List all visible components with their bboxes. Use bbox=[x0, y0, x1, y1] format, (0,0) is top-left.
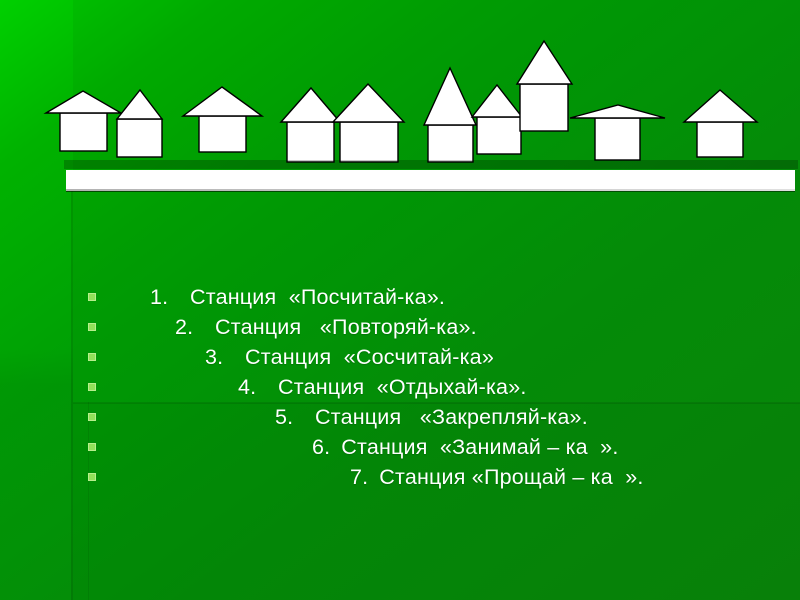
road-bar-shadow bbox=[64, 160, 798, 169]
house-7-peaked-body bbox=[477, 117, 521, 154]
house-6-narrow-spire-body bbox=[428, 125, 473, 162]
house-6-narrow-spire-roof bbox=[424, 68, 476, 125]
station-list: 1. Станция «Посчитай-ка».2. Станция «Пов… bbox=[0, 282, 800, 492]
village-skyline-illustration bbox=[0, 0, 800, 185]
list-item[interactable]: 4. Станция «Отдыхай-ка». bbox=[0, 372, 800, 402]
house-10-wide-roof-roof bbox=[684, 90, 757, 122]
house-1-wide-roof bbox=[46, 91, 121, 151]
house-7-peaked bbox=[472, 85, 522, 154]
list-item-label: 2. Станция «Повторяй-ка». bbox=[175, 315, 477, 340]
house-10-wide-roof-body bbox=[697, 122, 743, 157]
list-item[interactable]: 7. Станция «Прощай – ка ». bbox=[0, 462, 800, 492]
house-5-tall-roof-roof bbox=[333, 84, 404, 122]
road-bar-underline bbox=[66, 189, 795, 192]
house-2-steep-roof-body bbox=[117, 119, 162, 157]
white-horizontal-bar bbox=[66, 170, 795, 191]
list-item[interactable]: 2. Станция «Повторяй-ка». bbox=[0, 312, 800, 342]
list-item[interactable]: 5. Станция «Закрепляй-ка». bbox=[0, 402, 800, 432]
square-bullet-icon bbox=[88, 443, 96, 451]
list-item[interactable]: 3. Станция «Сосчитай-ка» bbox=[0, 342, 800, 372]
house-3-wide-roof-roof bbox=[183, 87, 262, 116]
square-bullet-icon bbox=[88, 353, 96, 361]
house-2-steep-roof bbox=[117, 90, 162, 157]
square-bullet-icon bbox=[88, 383, 96, 391]
house-4-tall-roof bbox=[281, 88, 340, 162]
house-1-wide-roof-body bbox=[60, 113, 107, 151]
presentation-slide: 1. Станция «Посчитай-ка».2. Станция «Пов… bbox=[0, 0, 800, 600]
house-6-narrow-spire bbox=[424, 68, 476, 162]
house-3-wide-roof bbox=[183, 87, 262, 152]
list-item-label: 5. Станция «Закрепляй-ка». bbox=[275, 405, 588, 430]
house-4-tall-roof-body bbox=[287, 122, 334, 162]
house-5-tall-roof-body bbox=[340, 122, 398, 162]
list-item-label: 3. Станция «Сосчитай-ка» bbox=[205, 345, 494, 370]
house-8-tower-roof bbox=[517, 41, 572, 84]
house-2-steep-roof-roof bbox=[117, 90, 162, 119]
house-9-flat-wide-roof-roof bbox=[570, 105, 665, 118]
list-item-label: 6. Станция «Занимай – ка ». bbox=[312, 435, 619, 460]
square-bullet-icon bbox=[88, 293, 96, 301]
square-bullet-icon bbox=[88, 413, 96, 421]
list-item-label: 7. Станция «Прощай – ка ». bbox=[350, 465, 644, 490]
list-item-label: 4. Станция «Отдыхай-ка». bbox=[238, 375, 527, 400]
house-9-flat-wide-roof bbox=[570, 105, 665, 160]
square-bullet-icon bbox=[88, 473, 96, 481]
house-8-tower-body bbox=[520, 84, 568, 131]
house-5-tall-roof bbox=[333, 84, 404, 162]
house-8-tower bbox=[517, 41, 572, 131]
square-bullet-icon bbox=[88, 323, 96, 331]
house-4-tall-roof-roof bbox=[281, 88, 340, 122]
house-9-flat-wide-roof-body bbox=[595, 118, 640, 160]
list-item[interactable]: 1. Станция «Посчитай-ка». bbox=[0, 282, 800, 312]
house-10-wide-roof bbox=[684, 90, 757, 157]
list-item-label: 1. Станция «Посчитай-ка». bbox=[150, 285, 445, 310]
house-1-wide-roof-roof bbox=[46, 91, 121, 113]
list-item[interactable]: 6. Станция «Занимай – ка ». bbox=[0, 432, 800, 462]
house-3-wide-roof-body bbox=[199, 116, 246, 152]
house-7-peaked-roof bbox=[472, 85, 522, 117]
